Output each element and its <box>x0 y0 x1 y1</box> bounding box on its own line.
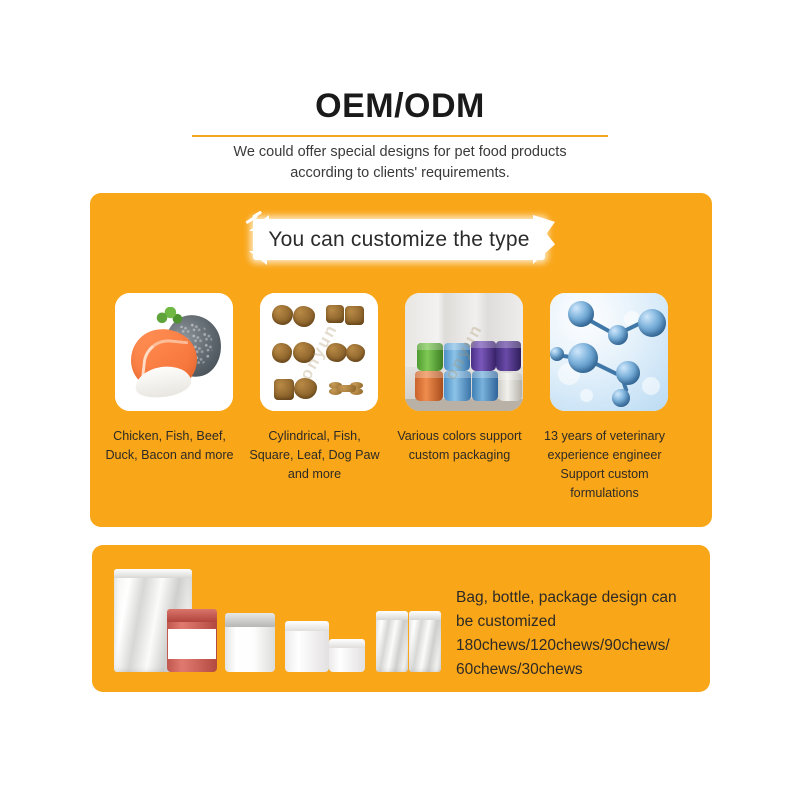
ribbon-title: You can customize the type <box>253 219 545 260</box>
colored-jars-photo: onyun <box>405 293 523 411</box>
feature-card-row: Chicken, Fish, Beef, Duck, Bacon and mor… <box>112 293 690 505</box>
header-subtitle-line-1: We could offer special designs for pet f… <box>0 142 800 163</box>
packaging-text-line-3: 180chews/120chews/90chews/ <box>456 634 786 658</box>
caption-line-1: 13 years of veterinary <box>544 429 665 443</box>
small-foil-pouch-right <box>409 611 441 672</box>
red-lid-jar <box>167 609 217 672</box>
caption-line-1: Chicken, Fish, Beef, <box>113 429 226 443</box>
caption-line-2: Duck, Bacon and <box>105 448 201 462</box>
ribbon-banner: You can customize the type <box>245 213 555 266</box>
packaging-text-line-1: Bag, bottle, package design can <box>456 586 786 610</box>
caption-line-1: Cylindrical, Fish, <box>268 429 360 443</box>
caption-line-3: more <box>205 448 234 462</box>
feature-card-caption: Cylindrical, Fish, Square, Leaf, Dog Paw… <box>248 427 382 484</box>
feature-card-flavors[interactable]: Chicken, Fish, Beef, Duck, Bacon and mor… <box>112 293 235 505</box>
pet-treat-shapes-photo: onyun <box>260 293 378 411</box>
caption-line-4: formulations <box>570 486 639 500</box>
silver-lid-jar <box>225 613 275 672</box>
packaging-lineup-photo <box>110 561 440 676</box>
packaging-text-line-2: be customized <box>456 610 786 634</box>
white-jar-small <box>329 639 365 672</box>
small-foil-pouch-left <box>376 611 408 672</box>
feature-card-caption: 13 years of veterinary experience engine… <box>538 427 672 503</box>
parsley-garnish-icon <box>155 307 183 325</box>
feature-card-formulations[interactable]: 13 years of veterinary experience engine… <box>547 293 670 505</box>
feature-card-caption: Chicken, Fish, Beef, Duck, Bacon and mor… <box>103 427 237 465</box>
packaging-text-line-4: 60chews/30chews <box>456 658 786 682</box>
feature-card-shapes[interactable]: onyun Cylindrical, Fish, Square, Leaf, D… <box>257 293 380 505</box>
caption-line-3: packaging <box>453 448 510 462</box>
white-jar-large <box>285 621 329 672</box>
caption-line-2: experience engineer <box>547 448 661 462</box>
customize-type-panel: You can customize the type Chicken, Fish… <box>90 193 712 527</box>
header-subtitle: We could offer special designs for pet f… <box>0 142 800 184</box>
feature-card-caption: Various colors support custom packaging <box>393 427 527 465</box>
salmon-steak-photo <box>115 293 233 411</box>
header-subtitle-line-2: according to clients' requirements. <box>0 163 800 184</box>
page-header: OEM/ODM We could offer special designs f… <box>0 86 800 126</box>
caption-line-1: Various colors <box>397 429 476 443</box>
promo-page: OEM/ODM We could offer special designs f… <box>0 0 800 800</box>
feature-card-packaging[interactable]: onyun Various colors support custom pack… <box>402 293 525 505</box>
caption-line-2: Square, Leaf, Dog <box>249 448 351 462</box>
header-divider <box>192 135 608 137</box>
packaging-description: Bag, bottle, package design can be custo… <box>456 586 786 682</box>
caption-line-3: Support custom <box>560 467 648 481</box>
molecule-structure-graphic <box>550 293 668 411</box>
page-title: OEM/ODM <box>0 86 800 126</box>
dog-bone-treat-icon <box>329 382 363 395</box>
